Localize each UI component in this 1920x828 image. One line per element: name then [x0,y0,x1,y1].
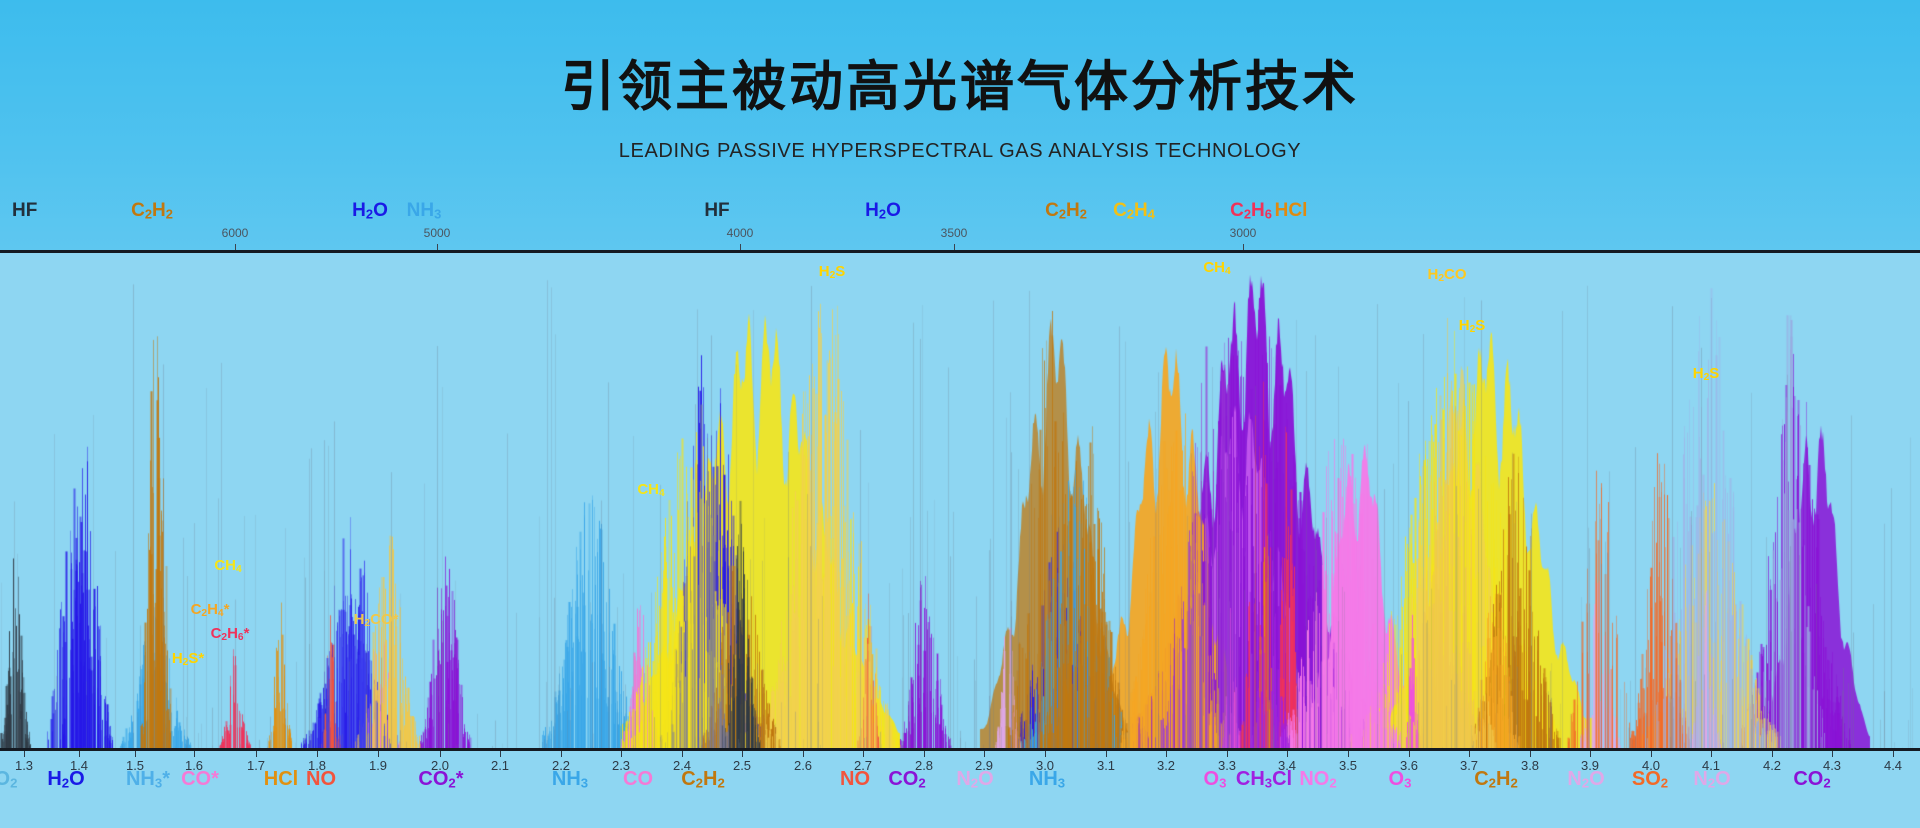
bottom-gas-label-so: SO2 [1632,768,1668,791]
bottom-gas-label-no: NO [840,768,870,791]
wavelength-tick-mark [1469,751,1470,757]
wavelength-tick-mark [1590,751,1591,757]
wavelength-tick-mark [1348,751,1349,757]
spectrum-plot: H2SCH4H2COH2SH2SCH4CH4C2H4*C2H6*H2S*H2CO… [0,253,1920,748]
wavelength-tick-mark [1166,751,1167,757]
bottom-gas-label-co: CO2 [1793,768,1830,791]
wavenumber-axis-ticks: 60005000400035003000 [0,226,1920,250]
plot-gas-label-hs: H2S* [172,650,204,668]
wavelength-tick-mark [561,751,562,757]
top-gas-label-hcl: HCl [1275,200,1308,222]
bottom-gas-label-no: N2O [1693,768,1730,791]
wavelength-tick-mark [1772,751,1773,757]
wavelength-tick-mark [24,751,25,757]
plot-gas-label-hs: H2S [819,263,846,281]
wavelength-tick-mark [1287,751,1288,757]
top-gas-label-ho: H2O [865,200,901,222]
wavenumber-tick-label: 3000 [1230,226,1257,240]
plot-gas-label-hco: H2CO [1427,266,1466,284]
wavelength-tick-mark [1651,751,1652,757]
wavenumber-tick-label: 4000 [727,226,754,240]
plot-gas-label-ch: CH4 [214,557,241,575]
bottom-gas-labels: O2H2ONH3*CO*HClNOCO2*NH3COC2H2NOCO2N2ONH… [0,768,1920,808]
wavelength-tick-mark [742,751,743,757]
wavelength-tick-mark [440,751,441,757]
wavelength-tick-mark [79,751,80,757]
top-gas-label-ch: C2H4 [1113,200,1155,222]
wavenumber-tick-label: 6000 [222,226,249,240]
bottom-gas-label-co: CO2* [418,768,463,791]
bottom-gas-label-o: O2 [0,768,17,791]
plot-gas-label-hs: H2S [1693,365,1720,383]
spectrum-canvas [0,253,1920,748]
wavelength-tick-mark [500,751,501,757]
bottom-gas-label-chcl: CH3Cl [1236,768,1292,791]
plot-gas-label-ch: CH4 [637,481,664,499]
wavelength-tick-mark [256,751,257,757]
top-gas-label-ho: H2O [352,200,388,222]
wavelength-tick-mark [803,751,804,757]
plot-gas-label-hs: H2S [1459,317,1486,335]
wavelength-tick-mark [924,751,925,757]
wavelength-tick-mark [194,751,195,757]
wavelength-tick-mark [1530,751,1531,757]
wavelength-tick-mark [1409,751,1410,757]
wavelength-tick-mark [378,751,379,757]
wavelength-tick-mark [1045,751,1046,757]
bottom-gas-label-nh: NH3 [1029,768,1065,791]
wavelength-tick-mark [984,751,985,757]
bottom-gas-label-co: CO [623,768,653,791]
top-gas-label-hf: HF [704,200,729,222]
top-gas-label-nh: NH3 [407,200,442,222]
top-gas-label-ch: C2H2 [1045,200,1087,222]
top-gas-label-ch: C2H6 [1230,200,1272,222]
plot-gas-label-ch: CH4 [1203,259,1230,277]
wavenumber-tick-label: 3500 [941,226,968,240]
page-subtitle: LEADING PASSIVE HYPERSPECTRAL GAS ANALYS… [0,140,1920,163]
wavelength-tick-mark [1893,751,1894,757]
wavelength-tick-mark [863,751,864,757]
bottom-gas-label-nh: NH3 [552,768,588,791]
wavelength-tick-mark [135,751,136,757]
wavelength-tick-mark [682,751,683,757]
bottom-gas-label-no: NO [306,768,336,791]
wavelength-tick-mark [1227,751,1228,757]
bottom-gas-label-no: NO2 [1299,768,1336,791]
page-title: 引领主被动高光谱气体分析技术 [0,60,1920,114]
wavenumber-tick-label: 5000 [424,226,451,240]
wavelength-tick-mark [1711,751,1712,757]
wavelength-tick-mark [1832,751,1833,757]
plot-gas-label-hco: H2CO* [354,611,399,629]
bottom-gas-label-o: O3 [1204,768,1227,791]
top-gas-label-hf: HF [12,200,37,222]
bottom-gas-label-ch: C2H2 [681,768,725,791]
bottom-gas-label-co: CO* [181,768,219,791]
bottom-gas-label-no: N2O [1567,768,1604,791]
bottom-gas-label-no: N2O [956,768,993,791]
bottom-gas-label-ch: C2H2 [1474,768,1518,791]
bottom-gas-label-hcl: HCl [264,768,298,791]
spectrum-banner: 引领主被动高光谱气体分析技术 LEADING PASSIVE HYPERSPEC… [0,0,1920,828]
plot-gas-label-ch: C2H6* [211,625,250,643]
bottom-gas-label-co: CO2 [888,768,925,791]
bottom-gas-label-ho: H2O [47,768,84,791]
top-gas-label-ch: C2H2 [131,200,173,222]
wavelength-tick-mark [317,751,318,757]
bottom-gas-label-o: O3 [1389,768,1412,791]
wavelength-tick-mark [621,751,622,757]
plot-gas-label-ch: C2H4* [191,601,230,619]
bottom-gas-label-nh: NH3* [126,768,170,791]
wavelength-tick-mark [1106,751,1107,757]
